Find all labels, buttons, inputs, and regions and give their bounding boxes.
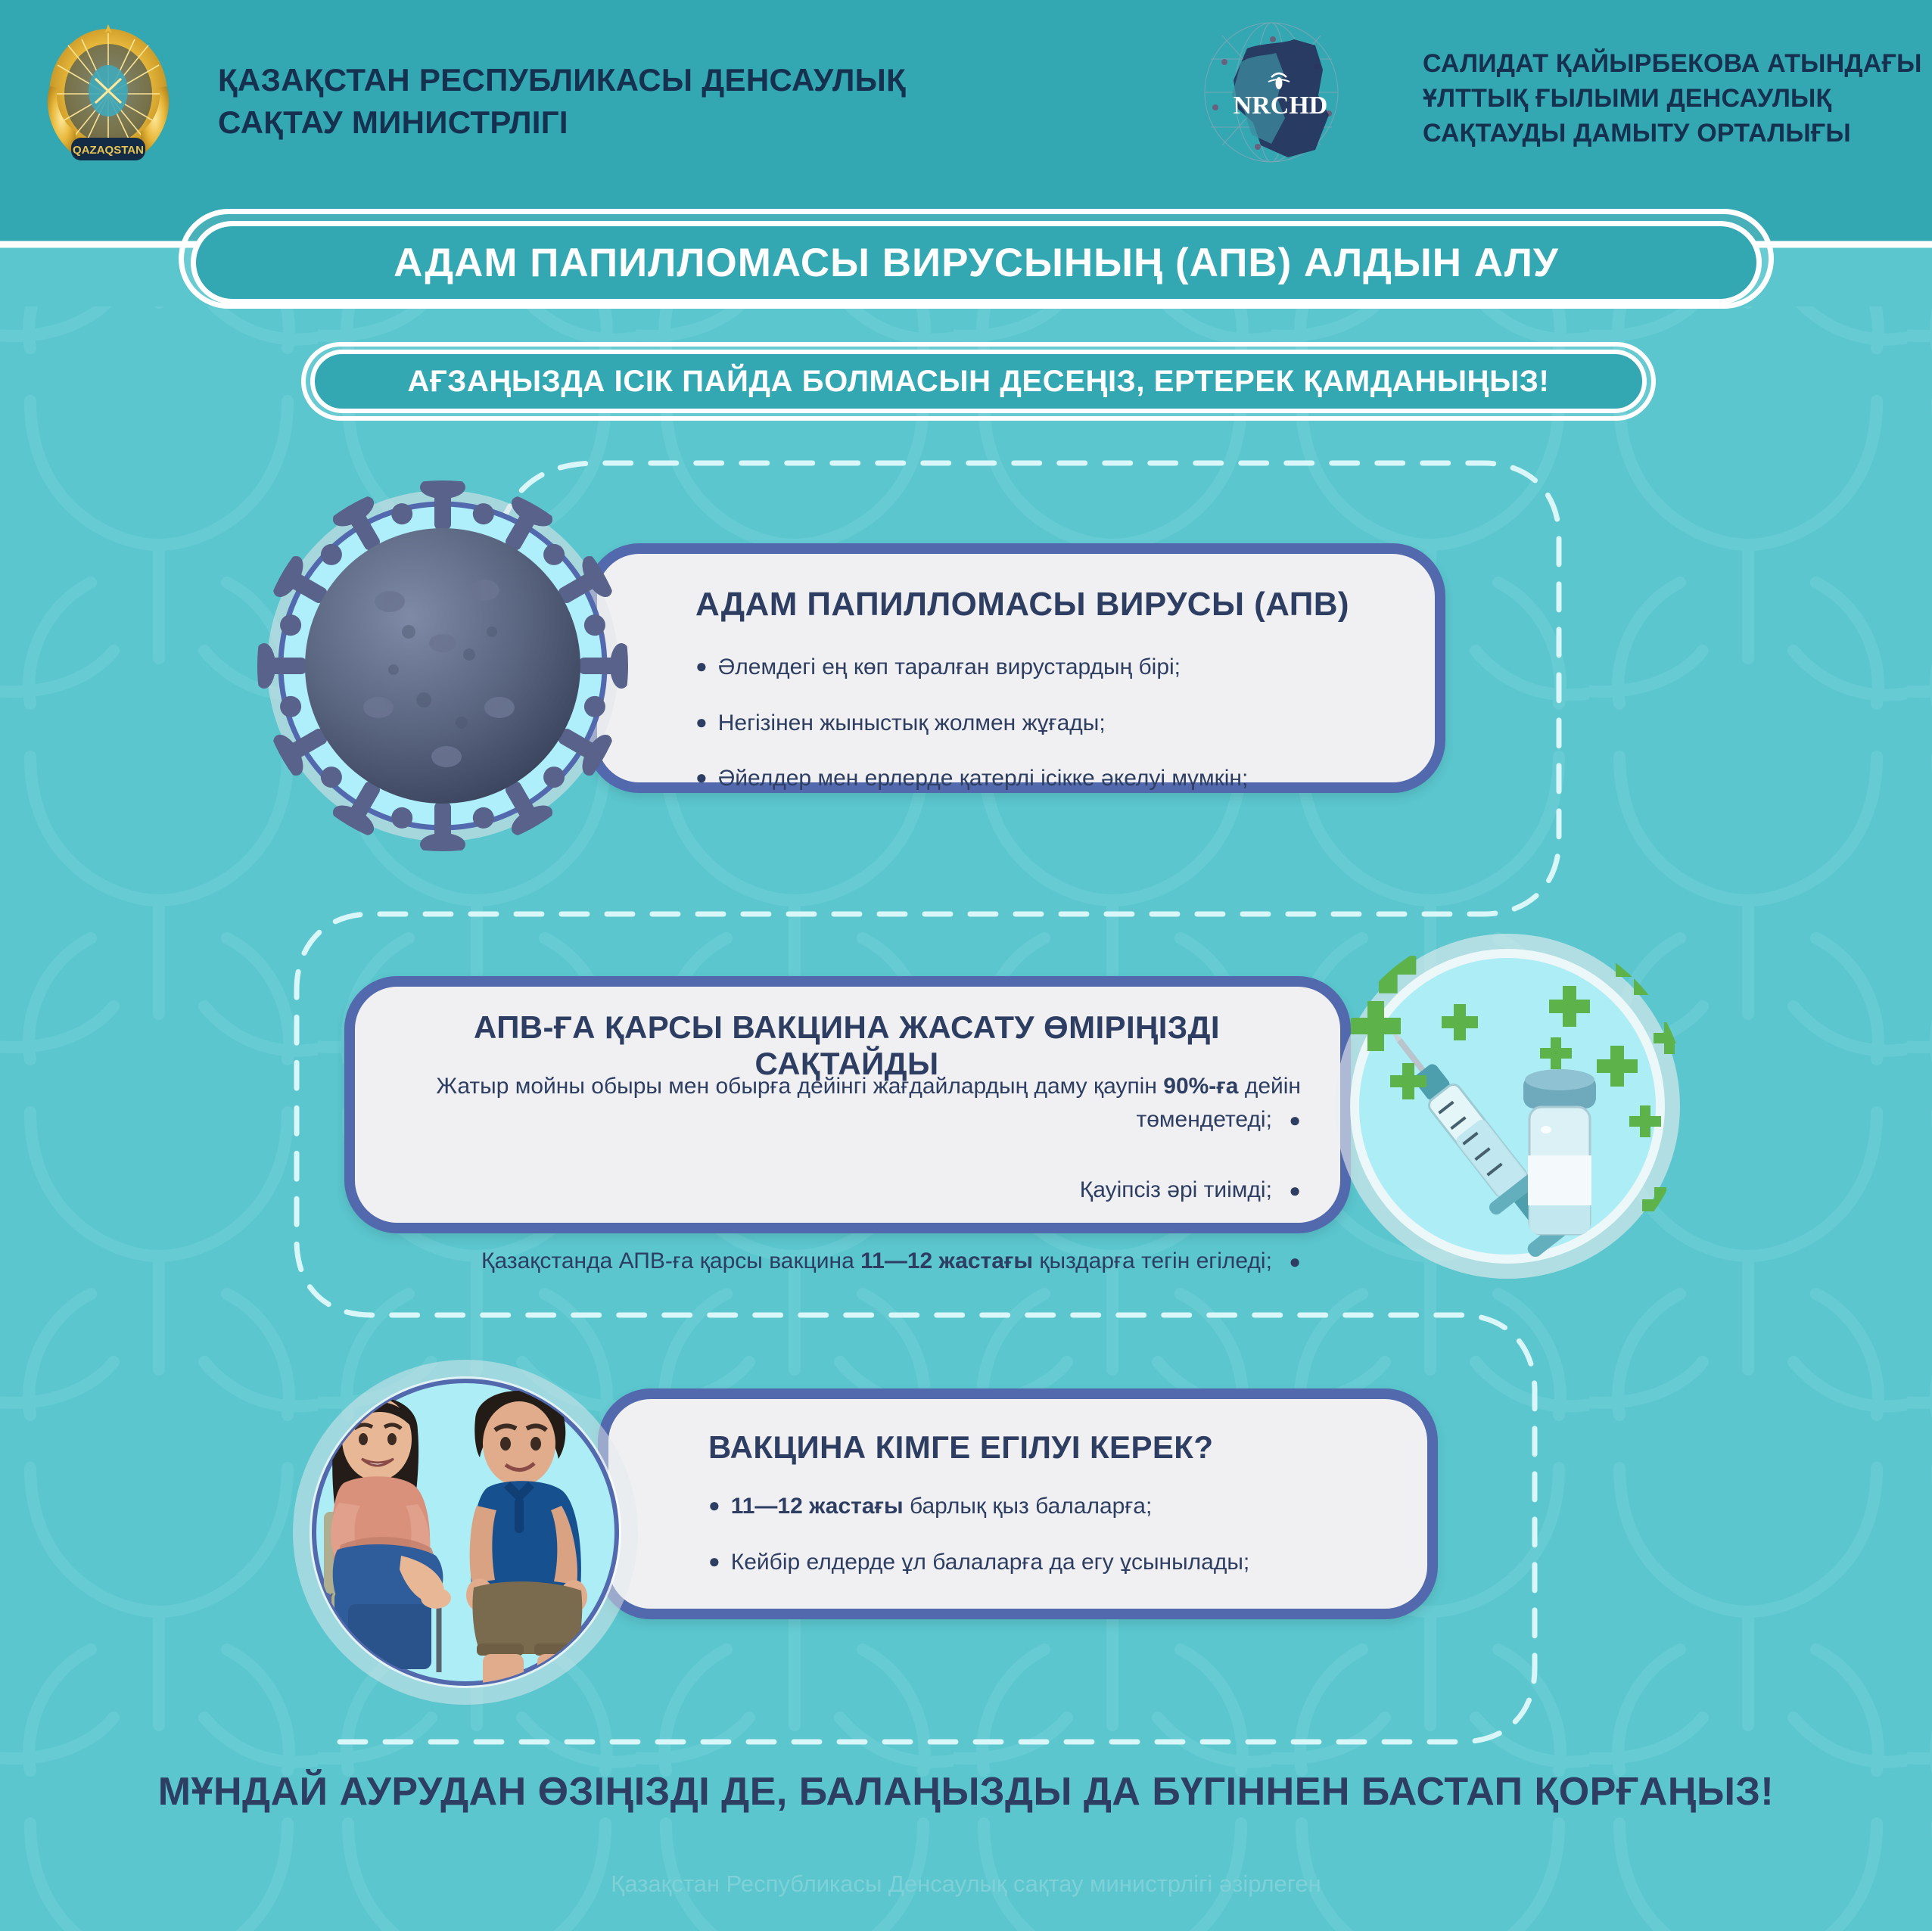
list-item: ● Әйелдер мен ерлерде қатерлі ісікке әке… [695, 762, 1377, 795]
bullet-text-pre: Қазақстанда АПВ-ға қарсы вакцина [481, 1248, 860, 1273]
bullet-text: Әйелдер мен ерлерде қатерлі ісікке әкелу… [718, 762, 1249, 795]
bullet-dot-icon: ● [1289, 1179, 1301, 1202]
list-item: ● Әлемдегі ең көп таралған вирустардың б… [695, 651, 1377, 684]
list-item: ● Кейбір елдерде ұл балаларға да егу ұсы… [708, 1546, 1374, 1579]
card-1-title: АДАМ ПАПИЛЛОМАСЫ ВИРУСЫ (АПВ) [695, 586, 1349, 623]
nrchd-line-1: САЛИДАТ ҚАЙЫРБЕКОВА АТЫНДАҒЫ [1423, 47, 1932, 82]
nrchd-abbreviation: NRCHD [1234, 92, 1328, 120]
ministry-line-1: ҚАЗАҚСТАН РЕСПУБЛИКАСЫ ДЕНСАУЛЫҚ [218, 59, 1088, 101]
nrchd-name: САЛИДАТ ҚАЙЫРБЕКОВА АТЫНДАҒЫ ҰЛТТЫҚ ҒЫЛЫ… [1423, 47, 1932, 151]
bullet-text: Кейбір елдерде ұл балаларға да егу ұсыны… [731, 1546, 1250, 1579]
secondary-banner-text: АҒЗАҢЫЗДА ІСІК ПАЙДА БОЛМАСЫН ДЕСЕҢІЗ, Е… [408, 365, 1550, 399]
primary-banner: АДАМ ПАПИЛЛОМАСЫ ВИРУСЫНЫҢ (АПВ) АЛДЫН А… [191, 221, 1762, 304]
bullet-dot-icon: ● [695, 651, 708, 683]
footer-call-to-action: МҰНДАЙ АУРУДАН ӨЗІҢІЗДІ ДЕ, БАЛАҢЫЗДЫ ДА… [0, 1769, 1932, 1814]
list-item: Қауіпсіз әрі тиімді; ● [385, 1174, 1301, 1207]
card-1-bullets: ● Әлемдегі ең көп таралған вирустардың б… [695, 651, 1377, 818]
bullet-text-post: қыздарға тегін егіледі; [1033, 1248, 1272, 1273]
nrchd-logo-icon: NRCHD [1188, 17, 1377, 172]
bullet-text: Негізінен жыныстық жолмен жұғады; [718, 707, 1106, 740]
bullet-text-bold: 90%-ға [1163, 1074, 1238, 1099]
bullet-text-pre: Қауіпсіз әрі тиімді; [1080, 1177, 1272, 1202]
bullet-text-bold: 11—12 жастағы [731, 1494, 904, 1519]
virus-particle-icon [257, 480, 628, 851]
card-3-bullets: ● 11—12 жастағы барлық қыз балаларға; ● … [708, 1490, 1374, 1601]
bullet-dot-icon: ● [695, 707, 708, 739]
card-who-should-vaccinate: ВАКЦИНА КІМГЕ ЕГІЛУІ КЕРЕК? ● 11—12 жаст… [598, 1388, 1438, 1619]
ministry-name: ҚАЗАҚСТАН РЕСПУБЛИКАСЫ ДЕНСАУЛЫҚ САҚТАУ … [218, 59, 1088, 145]
bullet-text-post: барлық қыз балаларға; [904, 1494, 1153, 1519]
bullet-dot-icon: ● [1289, 1109, 1301, 1131]
list-item: Қазақстанда АПВ-ға қарсы вакцина 11—12 ж… [385, 1245, 1301, 1278]
nrchd-line-2: ҰЛТТЫҚ ҒЫЛЫМИ ДЕНСАУЛЫҚ [1423, 82, 1932, 117]
bullet-dot-icon: ● [1289, 1250, 1301, 1273]
card-3-title: ВАКЦИНА КІМГЕ ЕГІЛУІ КЕРЕК? [708, 1429, 1213, 1466]
bullet-dot-icon: ● [708, 1546, 720, 1578]
card-vaccine-benefits: АПВ-ҒА ҚАРСЫ ВАКЦИНА ЖАСАТУ ӨМІРІҢІЗДІ С… [344, 976, 1351, 1233]
primary-banner-text: АДАМ ПАПИЛЛОМАСЫ ВИРУСЫНЫҢ (АПВ) АЛДЫН А… [394, 240, 1559, 286]
list-item: ● Негізінен жыныстық жолмен жұғады; [695, 707, 1377, 740]
footer-credit: Қазақстан Республикасы Денсаулық сақтау … [0, 1870, 1932, 1898]
two-children-icon [288, 1354, 643, 1710]
bullet-text: Әлемдегі ең көп таралған вирустардың бір… [718, 651, 1181, 684]
card-hpv-about: АДАМ ПАПИЛЛОМАСЫ ВИРУСЫ (АПВ) ● Әлемдегі… [586, 543, 1445, 793]
list-item: Жатыр мойны обыры мен обырға дейінгі жағ… [385, 1070, 1301, 1136]
ministry-line-2: САҚТАУ МИНИСТРЛІГІ [218, 101, 1088, 144]
bullet-dot-icon: ● [708, 1490, 720, 1522]
nrchd-line-3: САҚТАУДЫ ДАМЫТУ ОРТАЛЫҒЫ [1423, 117, 1932, 151]
kazakhstan-state-emblem-icon: QAZAQSTAN [36, 18, 180, 177]
infographic-page: QAZAQSTAN ҚАЗАҚСТАН РЕСПУБЛИКАСЫ ДЕНСАУЛ… [0, 0, 1932, 1931]
card-2-bullets: Жатыр мойны обыры мен обырға дейінгі жағ… [385, 1070, 1301, 1315]
list-item: ● 11—12 жастағы барлық қыз балаларға; [708, 1490, 1374, 1523]
syringe-and-vial-icon [1328, 927, 1688, 1286]
bullet-text-bold: 11—12 жастағы [860, 1248, 1033, 1273]
emblem-inscription: QAZAQSTAN [73, 144, 144, 157]
bullet-dot-icon: ● [695, 762, 708, 794]
secondary-banner: АҒЗАҢЫЗДА ІСІК ПАЙДА БОЛМАСЫН ДЕСЕҢІЗ, Е… [310, 350, 1647, 413]
bullet-text-pre: Жатыр мойны обыры мен обырға дейінгі жағ… [436, 1074, 1163, 1099]
